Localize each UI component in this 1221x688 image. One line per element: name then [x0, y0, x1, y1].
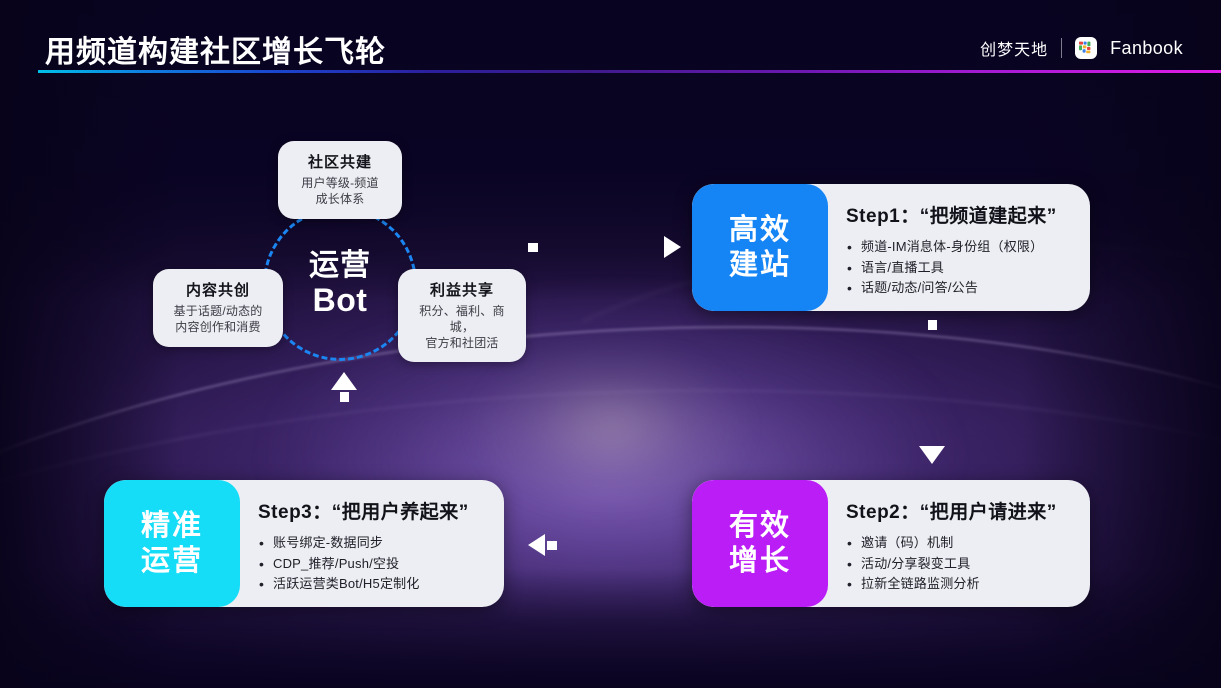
slide-canvas: 用频道构建社区增长飞轮 创梦天地 Fanbook 运营 Bot 社区共建 用户等…	[0, 0, 1221, 688]
brand-product-name: Fanbook	[1110, 38, 1183, 59]
card-step1[interactable]: 高效 建站 Step1：“把频道建起来” 频道-IM消息体-身份组（权限） 语言…	[692, 184, 1090, 311]
card-step1-badge-line2: 建站	[729, 248, 791, 282]
card-step1-title: Step1：“把频道建起来”	[846, 201, 1074, 228]
card-step2-title: Step2：“把用户请进来”	[846, 497, 1074, 524]
card-step2-body: Step2：“把用户请进来” 邀请（码）机制 活动/分享裂变工具 拉新全链路监测…	[828, 480, 1090, 607]
card-step2-badge-line1: 有效	[729, 509, 791, 543]
arrow-head	[664, 236, 681, 258]
arrow-head	[528, 534, 545, 556]
card-step3-title: Step3：“把用户养起来”	[258, 497, 488, 524]
arrow-up-icon-step3-to-wheel	[331, 372, 357, 490]
card-step3-badge-line1: 精准	[141, 509, 203, 543]
wheel-center-label: 运营 Bot	[263, 207, 417, 361]
bullet-item: 活动/分享裂变工具	[846, 554, 1074, 575]
bullet-item: 拉新全链路监测分析	[846, 574, 1074, 595]
bubble-description: 基于话题/动态的 内容创作和消费	[163, 304, 273, 336]
card-step3[interactable]: 精准 运营 Step3：“把用户养起来” 账号绑定-数据同步 CDP_推荐/Pu…	[104, 480, 504, 607]
card-step1-badge: 高效 建站	[692, 184, 828, 311]
bullet-item: 语言/直播工具	[846, 258, 1074, 279]
arrow-head	[331, 372, 357, 390]
bullet-item: 活跃运营类Bot/H5定制化	[258, 574, 488, 595]
bullet-item: CDP_推荐/Push/空投	[258, 554, 488, 575]
bullet-item: 账号绑定-数据同步	[258, 533, 488, 554]
card-step2-badge-line2: 增长	[729, 544, 791, 578]
card-step3-badge-line2: 运营	[141, 544, 203, 578]
card-step1-badge-line1: 高效	[729, 213, 791, 247]
arrow-down-icon-step1-to-step2	[919, 320, 945, 464]
bubble-description: 积分、福利、商城， 官方和社团活	[408, 304, 516, 351]
card-step2-badge: 有效 增长	[692, 480, 828, 607]
card-step3-body: Step3：“把用户养起来” 账号绑定-数据同步 CDP_推荐/Push/空投 …	[240, 480, 504, 607]
wheel-center-line1: 运营	[309, 249, 371, 283]
brand-company-name: 创梦天地	[980, 36, 1048, 60]
title-underline-gradient	[38, 70, 1221, 73]
arrow-dashes	[528, 243, 662, 252]
bullet-item: 话题/动态/问答/公告	[846, 278, 1074, 299]
bullet-item: 邀请（码）机制	[846, 533, 1074, 554]
brand-lockup: 创梦天地 Fanbook	[980, 34, 1183, 62]
card-step2[interactable]: 有效 增长 Step2：“把用户请进来” 邀请（码）机制 活动/分享裂变工具 拉…	[692, 480, 1090, 607]
page-title: 用频道构建社区增长飞轮	[45, 27, 386, 71]
bubble-content-cocreation[interactable]: 内容共创 基于话题/动态的 内容创作和消费	[153, 269, 283, 347]
bubble-description: 用户等级-频道 成长体系	[288, 176, 392, 208]
card-step3-badge: 精准 运营	[104, 480, 240, 607]
fanbook-logo-icon	[1075, 37, 1097, 59]
card-step2-bullets: 邀请（码）机制 活动/分享裂变工具 拉新全链路监测分析	[846, 533, 1074, 595]
arrow-left-icon-step2-to-step3	[528, 534, 685, 556]
bubble-title: 利益共享	[408, 279, 516, 300]
bubble-benefit-sharing[interactable]: 利益共享 积分、福利、商城， 官方和社团活	[398, 269, 526, 362]
bubble-community-cocreation[interactable]: 社区共建 用户等级-频道 成长体系	[278, 141, 402, 219]
bubble-title: 内容共创	[163, 279, 273, 300]
arrow-dashes	[340, 392, 349, 490]
arrow-right-icon-wheel-to-step1	[528, 236, 681, 258]
arrow-head	[919, 446, 945, 464]
arrow-dashes	[547, 541, 685, 550]
arrow-dashes	[928, 320, 937, 444]
wheel-center-line2: Bot	[313, 283, 368, 319]
card-step1-bullets: 频道-IM消息体-身份组（权限） 语言/直播工具 话题/动态/问答/公告	[846, 237, 1074, 299]
brand-divider	[1061, 38, 1062, 58]
card-step1-body: Step1：“把频道建起来” 频道-IM消息体-身份组（权限） 语言/直播工具 …	[828, 184, 1090, 311]
bullet-item: 频道-IM消息体-身份组（权限）	[846, 237, 1074, 258]
bubble-title: 社区共建	[288, 151, 392, 172]
card-step3-bullets: 账号绑定-数据同步 CDP_推荐/Push/空投 活跃运营类Bot/H5定制化	[258, 533, 488, 595]
